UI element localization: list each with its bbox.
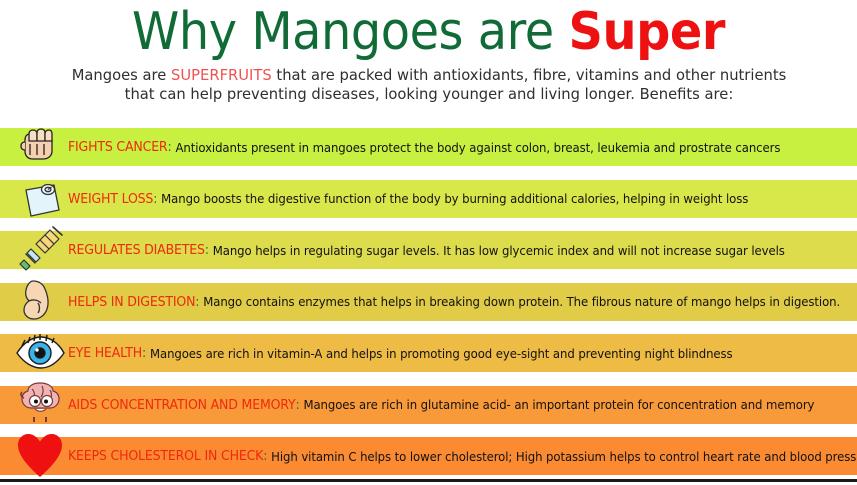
title-green-part: Why Mangoes are: [132, 2, 568, 62]
benefit-text: KEEPS CHOLESTEROL IN CHECK:High vitamin …: [68, 437, 857, 475]
benefit-text: REGULATES DIABETES:Mango helps in regula…: [68, 231, 785, 269]
benefit-text: WEIGHT LOSS:Mango boosts the digestive f…: [68, 180, 748, 218]
page-title: Why Mangoes are Super: [34, 2, 822, 62]
benefit-colon: :: [205, 242, 213, 258]
subtitle: Mangoes are SUPERFRUITS that are packed …: [58, 66, 799, 104]
benefit-row[interactable]: HELPS IN DIGESTION:Mango contains enzyme…: [0, 279, 857, 331]
benefit-row[interactable]: WEIGHT LOSS:Mango boosts the digestive f…: [0, 176, 857, 228]
eye-icon: [12, 324, 68, 380]
benefit-colon: :: [195, 294, 203, 310]
benefit-colon: :: [263, 448, 271, 464]
benefit-colon: :: [153, 191, 161, 207]
benefit-text: AIDS CONCENTRATION AND MEMORY:Mangoes ar…: [68, 386, 814, 424]
flexed-bicep-icon: [12, 273, 68, 329]
brain-icon: [12, 376, 68, 432]
benefit-row[interactable]: AIDS CONCENTRATION AND MEMORY:Mangoes ar…: [0, 382, 857, 434]
benefits-list: FIGHTS CANCER:Antioxidants present in ma…: [0, 124, 857, 485]
benefit-row[interactable]: KEEPS CHOLESTEROL IN CHECK:High vitamin …: [0, 433, 857, 485]
title-red-part: Super: [568, 2, 725, 62]
benefit-text: HELPS IN DIGESTION:Mango contains enzyme…: [68, 283, 840, 321]
benefit-text: FIGHTS CANCER:Antioxidants present in ma…: [68, 128, 780, 166]
benefit-text: EYE HEALTH:Mangoes are rich in vitamin-A…: [68, 334, 733, 372]
syringe-icon: [12, 221, 68, 277]
benefit-body: Mango contains enzymes that helps in bre…: [203, 294, 840, 309]
infographic-page: Why Mangoes are Super Mangoes are SUPERF…: [0, 0, 857, 482]
benefit-heading: AIDS CONCENTRATION AND MEMORY: [68, 397, 296, 413]
benefit-heading: FIGHTS CANCER: [68, 139, 167, 155]
benefit-heading: KEEPS CHOLESTEROL IN CHECK: [68, 448, 263, 464]
subtitle-superfruits-highlight: SUPERFRUITS: [171, 66, 272, 84]
weighing-scale-icon: [12, 170, 68, 226]
benefit-heading: REGULATES DIABETES: [68, 242, 205, 258]
benefit-body: Mango boosts the digestive function of t…: [161, 191, 748, 206]
benefit-body: Mangoes are rich in vitamin-A and helps …: [150, 346, 733, 361]
benefit-row[interactable]: FIGHTS CANCER:Antioxidants present in ma…: [0, 124, 857, 176]
benefit-heading: WEIGHT LOSS: [68, 191, 153, 207]
heart-icon: [12, 427, 68, 483]
benefit-row[interactable]: REGULATES DIABETES:Mango helps in regula…: [0, 227, 857, 279]
benefit-body: Mango helps in regulating sugar levels. …: [213, 243, 785, 258]
benefit-body: Antioxidants present in mangoes protect …: [175, 140, 780, 155]
benefit-body: Mangoes are rich in glutamine acid- an i…: [303, 397, 814, 412]
benefit-colon: :: [296, 397, 304, 413]
benefit-row[interactable]: EYE HEALTH:Mangoes are rich in vitamin-A…: [0, 330, 857, 382]
subtitle-part-1: Mangoes are: [71, 66, 170, 84]
benefit-colon: :: [167, 139, 175, 155]
benefit-heading: EYE HEALTH: [68, 345, 142, 361]
fist-icon: [12, 118, 68, 174]
header: Why Mangoes are Super Mangoes are SUPERF…: [0, 0, 857, 104]
benefit-body: High vitamin C helps to lower cholestero…: [271, 449, 857, 464]
benefit-colon: :: [142, 345, 150, 361]
benefit-heading: HELPS IN DIGESTION: [68, 294, 195, 310]
